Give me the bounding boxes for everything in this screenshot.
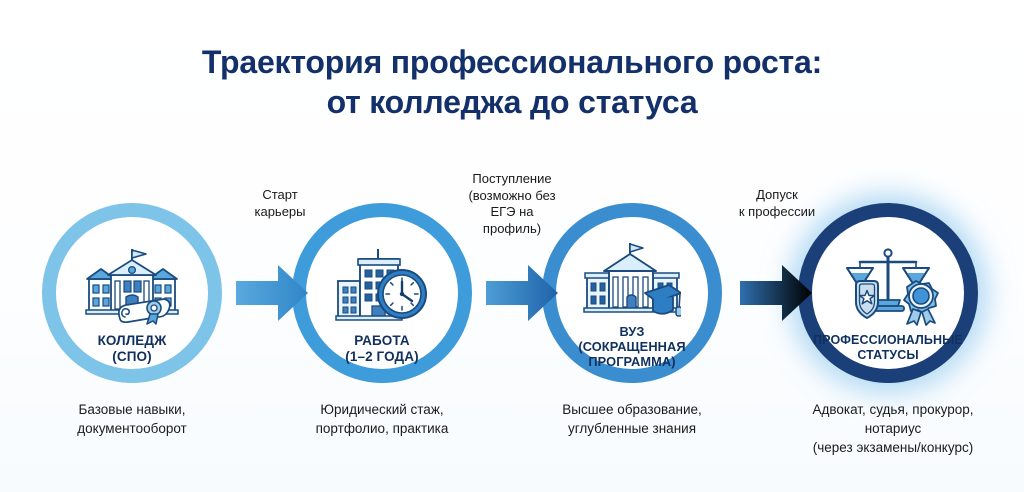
step-caption-university: Высшее образование, углубленные знания	[522, 400, 742, 438]
step-node-college[interactable]: КОЛЛЕДЖ (СПО)	[42, 203, 222, 383]
office-building-clock-icon	[334, 239, 430, 331]
university-graduation-cap-icon	[583, 239, 681, 322]
college-building-diploma-icon	[84, 239, 180, 331]
arrow-right-icon-start-career	[236, 262, 308, 324]
step-caption-college: Базовые навыки, документооборот	[22, 400, 242, 438]
step-node-professional-statuses[interactable]: ПРОФЕССИОНАЛЬНЫЕ СТАТУСЫ	[798, 203, 978, 383]
connector-label-profession-access: Допуск к профессии	[697, 187, 857, 220]
scales-badge-rosette-icon	[834, 239, 942, 331]
page-title: Траектория профессионального роста: от к…	[0, 42, 1024, 122]
step-node-work-label: РАБОТА (1–2 ГОДА)	[345, 333, 418, 364]
page-title-line-2: от колледжа до статуса	[0, 82, 1024, 122]
step-node-college-label: КОЛЛЕДЖ (СПО)	[98, 333, 167, 364]
arrow-right-icon-profession-access	[740, 262, 812, 324]
arrow-right-icon-admission	[486, 262, 558, 324]
step-node-university-label: ВУЗ (СОКРАЩЕННАЯ ПРОГРАММА)	[578, 324, 685, 369]
connector-label-start-career: Старт карьеры	[205, 187, 355, 220]
infographic-canvas: Траектория профессионального роста: от к…	[0, 0, 1024, 492]
connector-label-admission: Поступление (возможно без ЕГЭ на профиль…	[432, 171, 592, 237]
page-title-line-1: Траектория профессионального роста:	[0, 42, 1024, 82]
step-caption-work: Юридический стаж, портфолио, практика	[272, 400, 492, 438]
step-caption-professional-statuses: Адвокат, судья, прокурор, нотариус (чере…	[768, 400, 1018, 457]
step-node-professional-statuses-label: ПРОФЕССИОНАЛЬНЫЕ СТАТУСЫ	[813, 333, 963, 363]
